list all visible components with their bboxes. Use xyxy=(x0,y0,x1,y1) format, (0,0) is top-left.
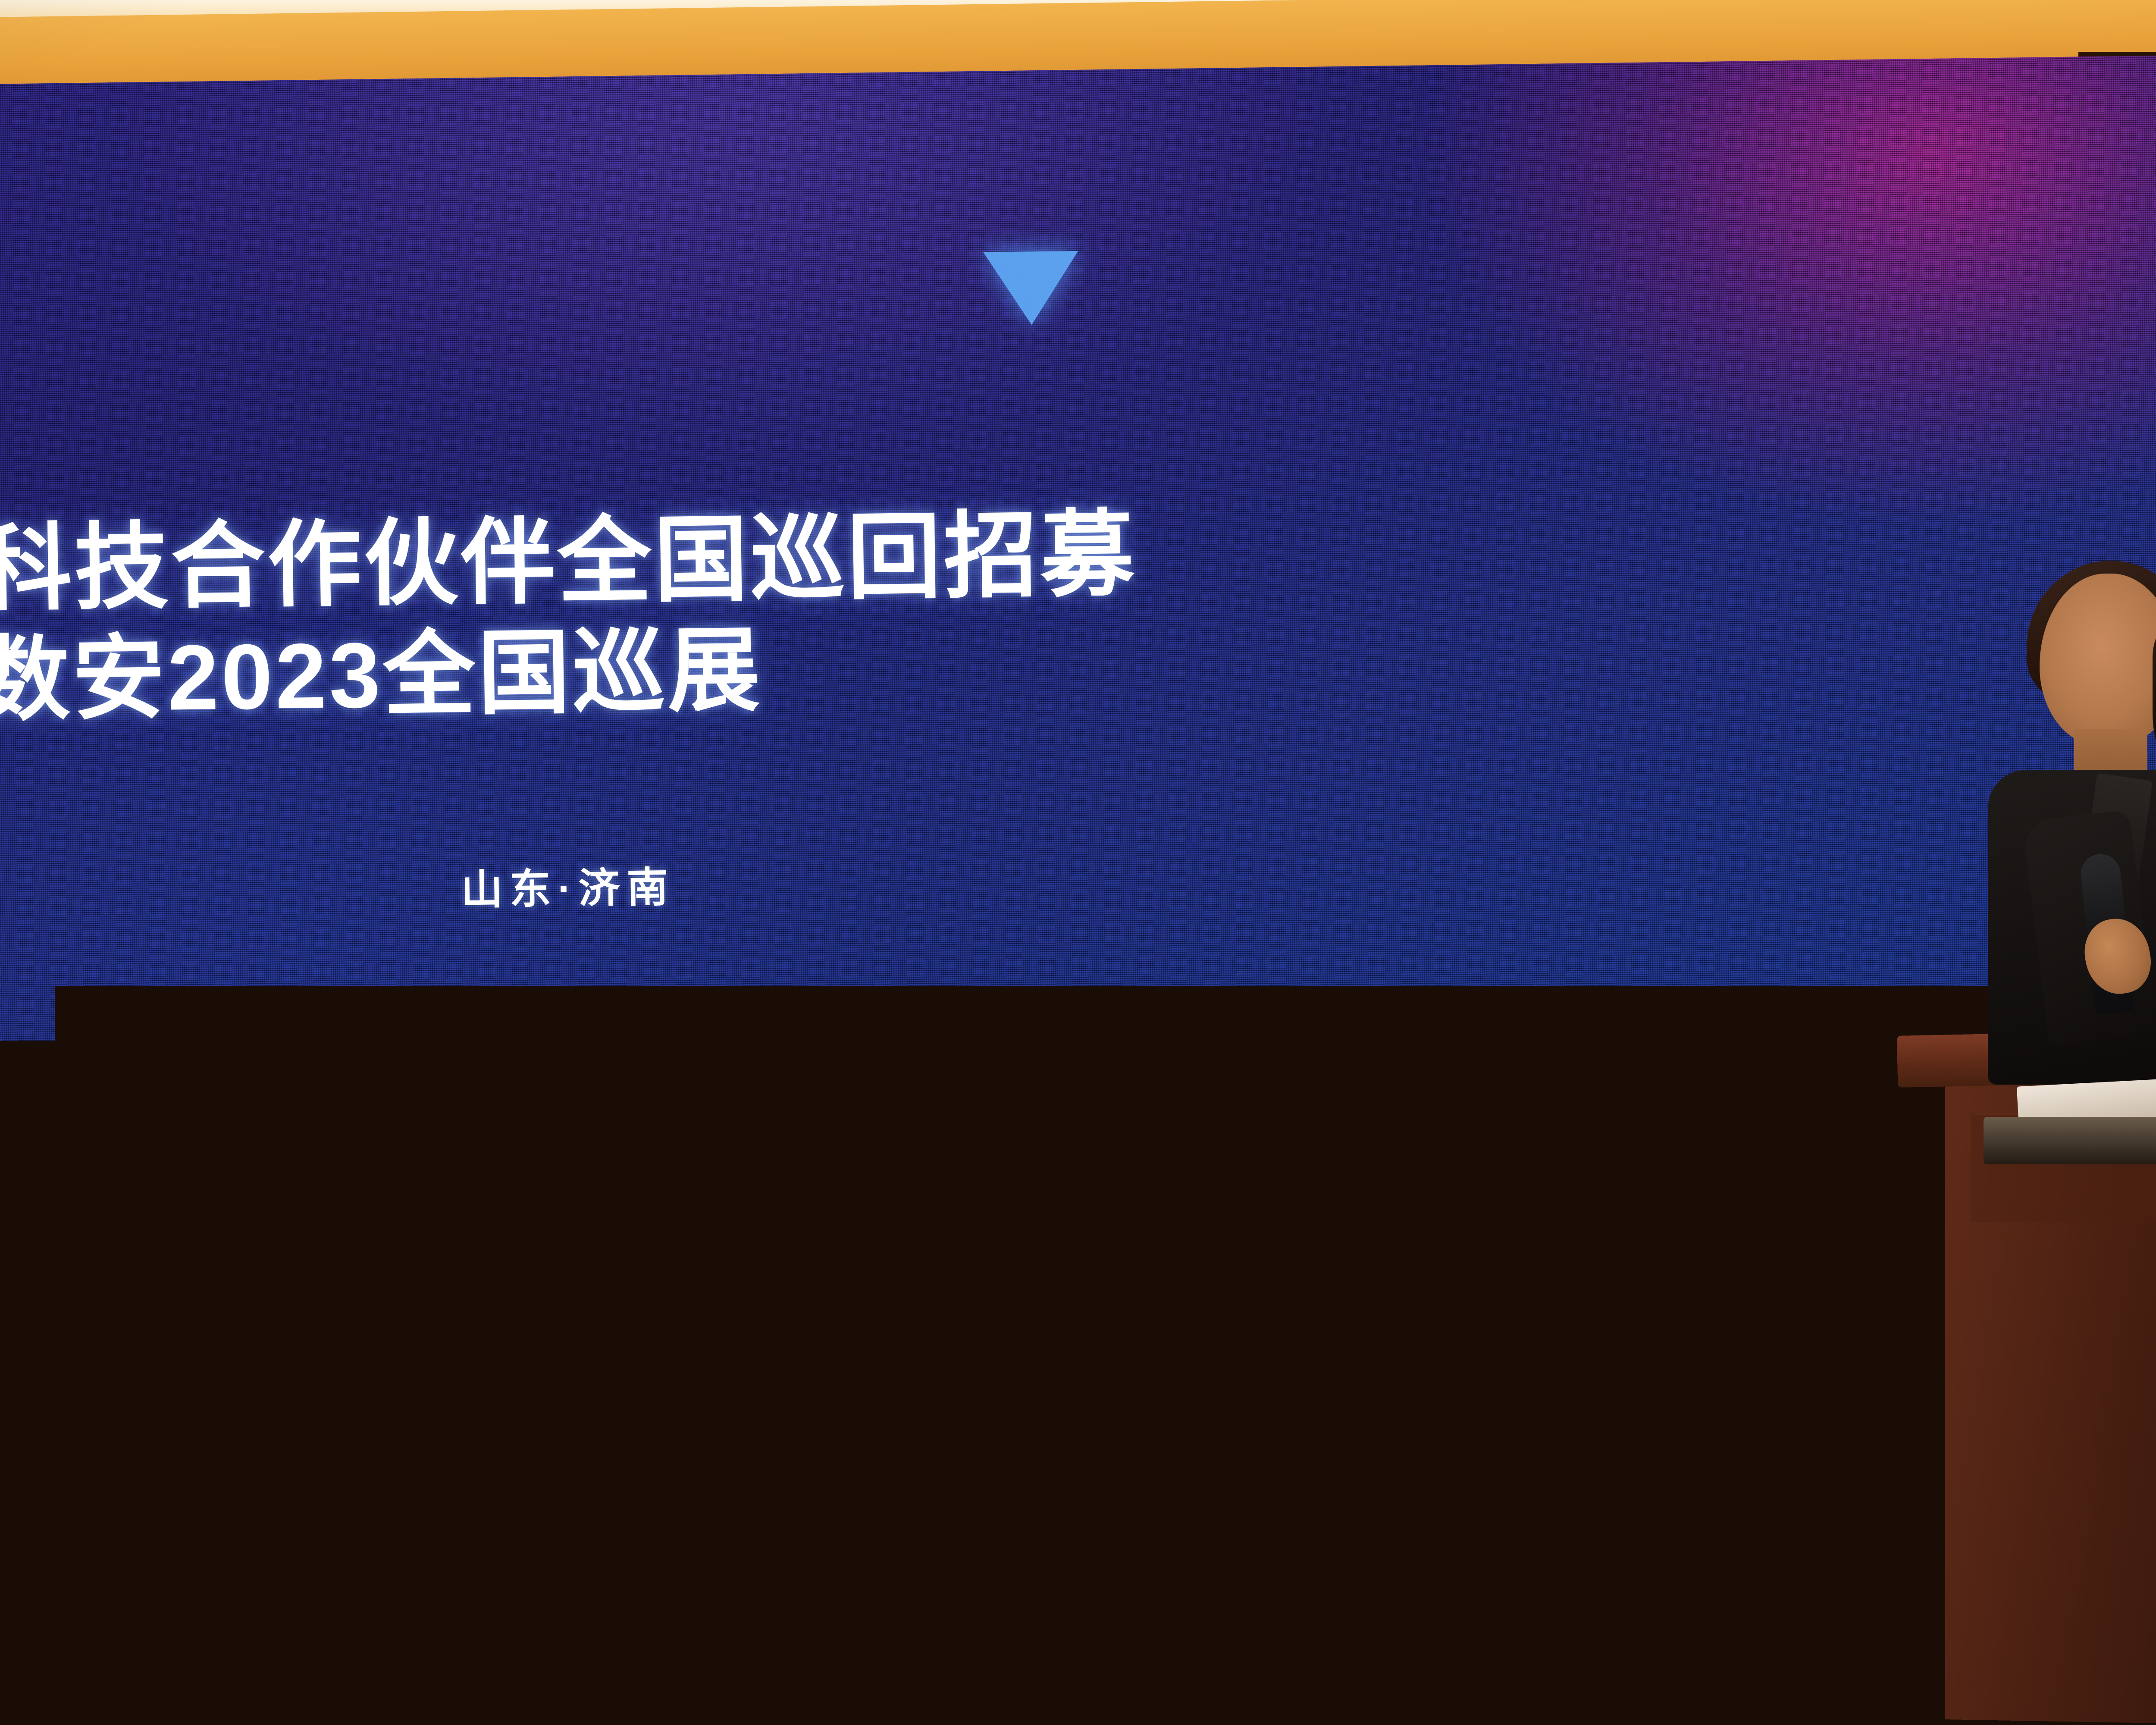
conference-photo-scene: 智科技合作伙伴全国巡回招募 容数安2023全国巡展 山东·济南 数安公司介绍&渠… xyxy=(0,0,2156,1725)
agenda-left-row: 公司介绍&渠道政策 xyxy=(0,1179,304,1289)
agenda-right-row: 16:45-17:05 教育行业机会点分享 xyxy=(922,1160,1571,1274)
agenda-topic: 教育行业机会点分享 xyxy=(1155,1162,1474,1216)
slide-title: 智科技合作伙伴全国巡回招募 容数安2023全国巡展 xyxy=(0,507,1139,731)
title-line-2: 容数安2023全国巡展 xyxy=(0,618,1139,731)
agenda-right-row: 17:25-17:35 交流互动&活动抽奖 xyxy=(926,1476,1576,1590)
agenda-time: 16:25-16:45 xyxy=(921,1069,1114,1112)
agenda-left-text: 安全行业技术趋势分享 xyxy=(0,1285,279,1339)
agenda-topic: 交流互动&活动抽奖 xyxy=(1159,1477,1469,1531)
agenda-time: 17:15-17:25 xyxy=(925,1385,1118,1427)
agenda-right-row: 16:25-16:45 医疗&政府行业机会点分享 xyxy=(921,1055,1570,1169)
agenda-topic: 合作伙伴分享 xyxy=(1158,1374,1370,1426)
hotel-logo-cn: 禧悦東方 xyxy=(2031,1474,2156,1511)
angel-mark-icon xyxy=(2152,1451,2156,1470)
slide-subtitle-location: 山东·济南 xyxy=(461,853,676,916)
agenda-left-text: 公司介绍&渠道政策 xyxy=(0,1180,233,1234)
podium-front-panel xyxy=(1971,1113,2156,1690)
agenda-right-row: 17:15-17:25 合作伙伴分享 xyxy=(925,1371,1574,1485)
agenda-left-row: 数安公司介绍&渠道政策 xyxy=(0,1074,303,1184)
podium-laptop xyxy=(1984,1117,2156,1164)
agenda-left-row: 安全行业技术趋势分享 xyxy=(0,1285,306,1395)
agenda-left-text: &扫码填 奖 xyxy=(0,1498,106,1550)
agenda-separator-icon xyxy=(1137,1383,1140,1422)
slide-content: 智科技合作伙伴全国巡回招募 容数安2023全国巡展 山东·济南 数安公司介绍&渠… xyxy=(0,51,2156,1640)
agenda-right-row: 17:05-17:15 双方渠道授牌仪式 xyxy=(923,1266,1573,1380)
agenda-separator-icon xyxy=(1134,1172,1137,1212)
agenda-left-text: 数安公司介绍&渠道政策 xyxy=(0,1074,302,1129)
triangle-up-icon xyxy=(1718,1360,1848,1424)
agenda-topic: 双方渠道授牌仪式 xyxy=(1156,1267,1440,1321)
agenda-topic: 医疗&政府行业机会点分享 xyxy=(1154,1055,1569,1111)
agenda-separator-icon xyxy=(1132,1067,1135,1107)
agenda-column-right: 16:25-16:45 医疗&政府行业机会点分享 16:45-17:05 教育行… xyxy=(921,1055,1575,1590)
agenda-time: 16:45-17:05 xyxy=(922,1175,1115,1217)
agenda-separator-icon xyxy=(1138,1488,1141,1527)
agenda-time: 17:25-17:35 xyxy=(926,1490,1119,1533)
title-line-1: 智科技合作伙伴全国巡回招募 xyxy=(0,507,1138,619)
hotel-name-en-left: ENJOY xyxy=(2062,1452,2146,1470)
agenda-time: 17:05-17:15 xyxy=(924,1280,1117,1322)
led-stage-screen: 智科技合作伙伴全国巡回招募 容数安2023全国巡展 山东·济南 数安公司介绍&渠… xyxy=(0,51,2156,1640)
agenda-separator-icon xyxy=(1135,1277,1138,1317)
agenda-left-text: 行业技术趋势分享 xyxy=(0,1391,210,1445)
triangle-down-icon xyxy=(983,251,1079,326)
hotel-logo: ENJOY HOTEL 禧悦東方 xyxy=(2031,1449,2156,1511)
